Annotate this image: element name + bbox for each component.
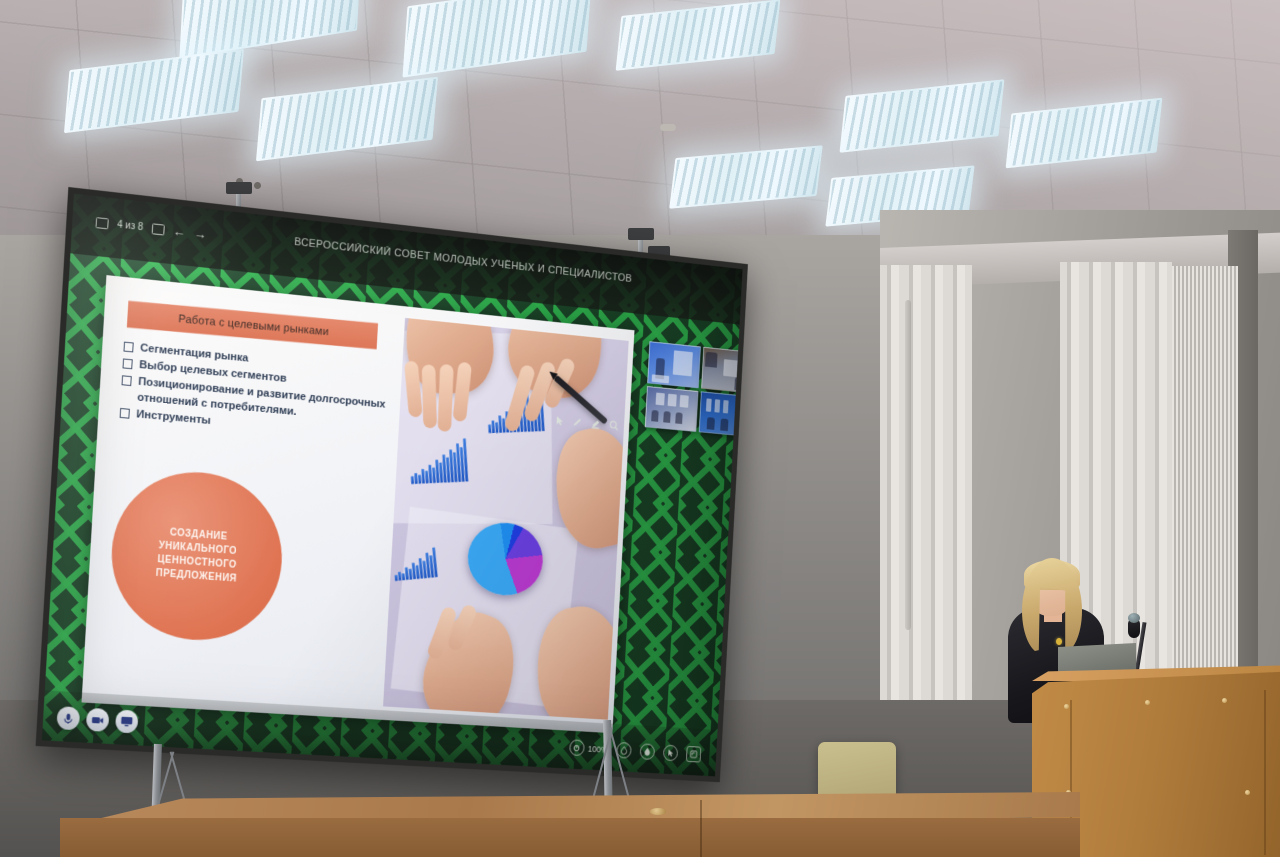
finger — [438, 364, 454, 432]
window-blinds — [1172, 266, 1238, 736]
bar-chart — [409, 436, 468, 484]
tile-person — [704, 352, 717, 368]
pointer-icon[interactable] — [663, 745, 678, 762]
participant-tile[interactable] — [647, 341, 700, 388]
presenter-badge — [1056, 638, 1062, 645]
bar-chart — [392, 539, 438, 581]
podium-stud — [1245, 790, 1250, 795]
table-seam — [700, 800, 702, 857]
camera-button[interactable] — [86, 708, 110, 732]
tile-person — [706, 417, 714, 430]
pen-icon[interactable] — [572, 417, 582, 428]
participant-tiles-grid[interactable] — [645, 341, 743, 437]
finger — [422, 365, 437, 428]
projection-screen: 4 из 8 ← → ВСЕРОССИЙСКИЙ СОВЕТ МОЛОДЫХ У… — [36, 187, 748, 782]
tile-person — [651, 409, 658, 421]
slide-navigation[interactable]: 4 из 8 ← → — [95, 216, 206, 241]
front-table-front — [60, 818, 1080, 857]
prev-slide-arrow[interactable]: ← — [173, 225, 186, 239]
screen-share-icon[interactable] — [95, 217, 108, 229]
slides-grid-icon[interactable] — [152, 223, 165, 235]
smoke-detector-icon — [660, 124, 676, 131]
tile-person — [663, 411, 670, 423]
checkbox-icon — [120, 408, 130, 419]
slide-photo — [383, 318, 629, 720]
rotate-icon[interactable] — [640, 743, 656, 760]
checkbox-icon — [122, 358, 132, 369]
fullscreen-icon[interactable] — [686, 746, 701, 763]
next-slide-arrow[interactable]: → — [194, 227, 207, 241]
checkbox-icon — [122, 375, 132, 386]
view-controls[interactable]: 100% — [569, 739, 701, 762]
wall-cable-trunk — [905, 300, 911, 630]
share-screen-button[interactable] — [115, 709, 139, 733]
podium-stud — [1145, 700, 1150, 705]
slide-counter: 4 из 8 — [117, 219, 144, 233]
podium-stud — [1064, 704, 1069, 709]
tile-person — [675, 412, 682, 424]
podium-stud — [1222, 698, 1227, 703]
tile-screen — [656, 392, 665, 405]
checkbox-icon — [123, 342, 133, 353]
conference-room-photo: 4 из 8 ← → ВСЕРОССИЙСКИЙ СОВЕТ МОЛОДЫХ У… — [0, 0, 1280, 857]
screen-mount-bracket — [226, 182, 252, 194]
media-controls[interactable] — [56, 706, 138, 733]
table-cable-grommet — [650, 808, 666, 815]
zoom-icon[interactable] — [569, 739, 585, 756]
tile-screen — [680, 394, 689, 407]
tile-screen — [705, 398, 711, 411]
microphone-icon — [1128, 613, 1140, 623]
tile-podium — [652, 374, 670, 383]
ceiling-sensor — [254, 182, 261, 189]
tile-screen — [714, 399, 720, 412]
presentation-slide: Работа с целевыми рынками Сегментация ры… — [82, 275, 635, 733]
microphone-button[interactable] — [56, 706, 80, 730]
zoom-in-icon[interactable] — [609, 420, 619, 431]
value-proposition-circle: СОЗДАНИЕ УНИКАЛЬНОГО ЦЕННОСТНОГО ПРЕДЛОЖ… — [107, 465, 286, 645]
tile-screen — [668, 393, 677, 406]
participant-tile[interactable] — [645, 386, 698, 432]
tile-screen — [722, 400, 728, 413]
podium-panel-line — [1264, 690, 1266, 855]
screen-mount-bracket — [628, 228, 654, 240]
cursor-icon[interactable] — [556, 415, 564, 426]
screen-surface: 4 из 8 ← → ВСЕРОССИЙСКИЙ СОВЕТ МОЛОДЫХ У… — [42, 194, 743, 777]
tile-person — [720, 418, 728, 431]
circle-text: СОЗДАНИЕ УНИКАЛЬНОГО ЦЕННОСТНОГО ПРЕДЛОЖ… — [155, 525, 239, 586]
slide-bullet-list: Сегментация рынка Выбор целевых сегменто… — [119, 339, 406, 447]
tile-screen — [673, 350, 693, 376]
highlighter-icon[interactable] — [591, 418, 601, 429]
